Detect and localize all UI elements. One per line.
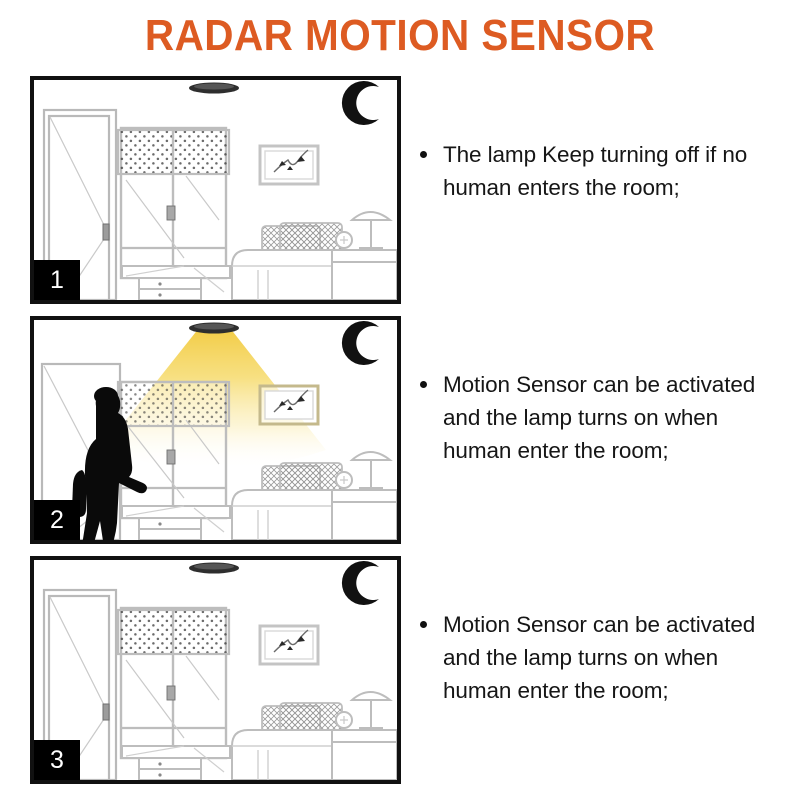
illustration-panel-2: 2 bbox=[30, 316, 401, 544]
step-row-3: 3 Motion Sensor can be activated and the… bbox=[0, 556, 800, 786]
bedroom-scene-2 bbox=[34, 320, 397, 540]
bullet-dot-icon bbox=[420, 381, 427, 388]
page-title: RADAR MOTION SENSOR bbox=[32, 10, 768, 62]
bullet-text-2: Motion Sensor can be activated and the l… bbox=[443, 368, 780, 467]
bullet-text-1: The lamp Keep turning off if no human en… bbox=[443, 138, 780, 204]
wall-picture-frame bbox=[260, 626, 318, 664]
window-with-curtain bbox=[118, 128, 229, 278]
ceiling-radar-sensor-lamp bbox=[189, 563, 239, 574]
window-with-curtain bbox=[118, 382, 229, 518]
illustration-panel-1: 1 bbox=[30, 76, 401, 304]
wall-picture-frame bbox=[260, 386, 318, 424]
step-number-badge: 1 bbox=[34, 260, 80, 300]
bedroom-scene-3 bbox=[34, 560, 397, 780]
window-with-curtain bbox=[118, 608, 229, 758]
step-row-2: 2 Motion Sensor can be activated and the… bbox=[0, 316, 800, 546]
step-row-1: 1 The lamp Keep turning off if no human … bbox=[0, 76, 800, 306]
ceiling-radar-sensor-lamp bbox=[189, 83, 239, 94]
bullet-item-3: Motion Sensor can be activated and the l… bbox=[420, 608, 780, 707]
bullet-text-3: Motion Sensor can be activated and the l… bbox=[443, 608, 780, 707]
bullet-item-2: Motion Sensor can be activated and the l… bbox=[420, 368, 780, 467]
illustration-panel-3: 3 bbox=[30, 556, 401, 784]
step-number-badge: 3 bbox=[34, 740, 80, 780]
step-number-badge: 2 bbox=[34, 500, 80, 540]
bullet-dot-icon bbox=[420, 621, 427, 628]
bullet-item-1: The lamp Keep turning off if no human en… bbox=[420, 138, 780, 204]
bullet-dot-icon bbox=[420, 151, 427, 158]
bedroom-scene-1 bbox=[34, 80, 397, 300]
ceiling-radar-sensor-lamp bbox=[189, 323, 239, 334]
wall-picture-frame bbox=[260, 146, 318, 184]
